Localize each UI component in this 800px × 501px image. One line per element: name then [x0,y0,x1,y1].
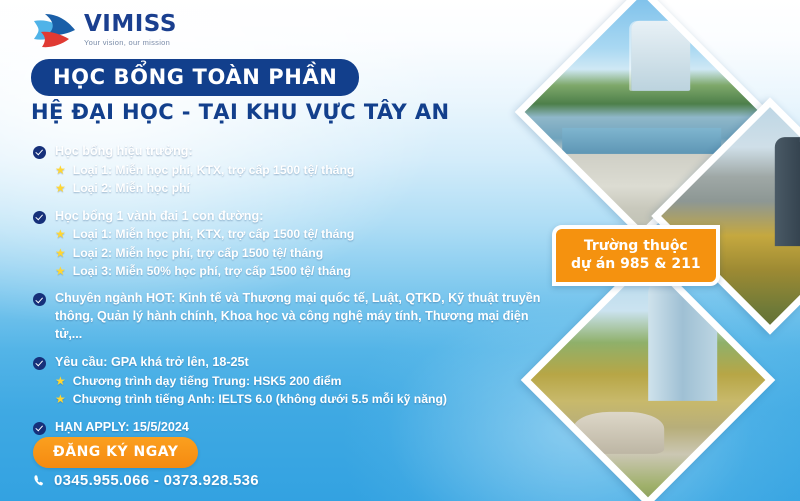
benefit-sub-text: Chương trình dạy tiếng Trung: HSK5 200 đ… [73,373,342,390]
campus-plaza-image [525,0,760,229]
benefit-sub-row: ★Loại 2: Miễn học phí [33,180,553,197]
star-icon: ★ [55,164,66,176]
star-icon: ★ [55,247,66,259]
badge-line-1: Trường thuộc [571,237,701,255]
benefit-group: Chuyên ngành HOT: Kinh tế và Thương mại … [33,290,553,344]
star-icon: ★ [55,393,66,405]
benefit-sub-text: Loại 1: Miễn học phí, KTX, trợ cấp 1500 … [73,226,355,243]
check-circle-icon [33,293,46,306]
star-icon: ★ [55,182,66,194]
benefit-main-text: Chuyên ngành HOT: Kinh tế và Thương mại … [55,290,553,344]
benefit-group: HẠN APPLY: 15/5/2024 [33,419,553,437]
phone-numbers: 0345.955.066 - 0373.928.536 [54,472,259,489]
benefit-sub-row: ★Chương trình tiếng Anh: IELTS 6.0 (khôn… [33,391,553,408]
brand-name: VIMISS [84,13,177,36]
benefit-sub-row: ★Loại 1: Miễn học phí, KTX, trợ cấp 1500… [33,162,553,179]
tower-mountains-image [661,107,800,325]
photo-diamond-tower-mountains [651,97,800,335]
check-circle-icon [33,146,46,159]
benefit-main-text: HẠN APPLY: 15/5/2024 [55,419,189,437]
benefit-main-row: Học bổng hiệu trưởng: [33,143,553,161]
benefit-sub-row: ★Chương trình dạy tiếng Trung: HSK5 200 … [33,373,553,390]
benefit-sub-text: Chương trình tiếng Anh: IELTS 6.0 (không… [73,391,447,408]
headline-pill: HỌC BỔNG TOÀN PHẦN [31,59,359,96]
badge-line-2: dự án 985 & 211 [571,255,701,273]
benefit-main-text: Học bổng hiệu trưởng: [55,143,193,161]
benefit-sub-text: Loại 2: Miễn học phí, trợ cấp 1500 tệ/ t… [73,245,323,262]
benefit-sub-list: ★Chương trình dạy tiếng Trung: HSK5 200 … [33,373,553,409]
benefit-sub-list: ★Loại 1: Miễn học phí, KTX, trợ cấp 1500… [33,226,553,280]
phone-handset-icon [33,474,47,488]
star-icon: ★ [55,375,66,387]
star-icon: ★ [55,228,66,240]
benefit-main-row: HẠN APPLY: 15/5/2024 [33,419,553,437]
benefit-sub-row: ★Loại 2: Miễn học phí, trợ cấp 1500 tệ/ … [33,245,553,262]
sub-headline: HỆ ĐẠI HỌC - TẠI KHU VỰC TÂY AN [31,101,450,124]
brand-wordmark: VIMISS Your vision, our mission [84,13,177,47]
contact-phone-line[interactable]: 0345.955.066 - 0373.928.536 [33,472,259,489]
benefit-sub-text: Loại 1: Miễn học phí, KTX, trợ cấp 1500 … [73,162,355,179]
benefits-list: Học bổng hiệu trưởng:★Loại 1: Miễn học p… [33,143,553,436]
benefit-sub-row: ★Loại 1: Miễn học phí, KTX, trợ cấp 1500… [33,226,553,243]
benefit-main-row: Chuyên ngành HOT: Kinh tế và Thương mại … [33,290,553,344]
benefit-sub-text: Loại 3: Miễn 50% học phí, trợ cấp 1500 t… [73,263,351,280]
register-now-button[interactable]: ĐĂNG KÝ NGAY [33,437,198,468]
benefit-main-text: Học bổng 1 vành đai 1 con đường: [55,208,263,226]
star-icon: ★ [55,265,66,277]
brand-tagline: Your vision, our mission [84,39,177,47]
benefit-group: Học bổng hiệu trưởng:★Loại 1: Miễn học p… [33,143,553,198]
benefit-sub-row: ★Loại 3: Miễn 50% học phí, trợ cấp 1500 … [33,263,553,280]
project-985-211-badge: Trường thuộc dự án 985 & 211 [552,225,720,286]
sail-arrow-logo-icon [31,8,77,52]
benefit-main-text: Yêu cầu: GPA khá trở lên, 18-25t [55,354,249,372]
benefit-sub-list: ★Loại 1: Miễn học phí, KTX, trợ cấp 1500… [33,162,553,198]
photo-diamond-sculpture-tower [521,253,776,501]
brand-logo[interactable]: VIMISS Your vision, our mission [31,8,177,52]
benefit-sub-text: Loại 2: Miễn học phí [73,180,190,197]
check-circle-icon [33,422,46,435]
check-circle-icon [33,211,46,224]
sculpture-tower-image [531,263,766,498]
benefit-main-row: Yêu cầu: GPA khá trở lên, 18-25t [33,354,553,372]
benefit-main-row: Học bổng 1 vành đai 1 con đường: [33,208,553,226]
check-circle-icon [33,357,46,370]
scholarship-poster: VIMISS Your vision, our mission HỌC BỔNG… [0,0,800,501]
benefit-group: Yêu cầu: GPA khá trở lên, 18-25t★Chương … [33,354,553,409]
benefit-group: Học bổng 1 vành đai 1 con đường:★Loại 1:… [33,208,553,281]
